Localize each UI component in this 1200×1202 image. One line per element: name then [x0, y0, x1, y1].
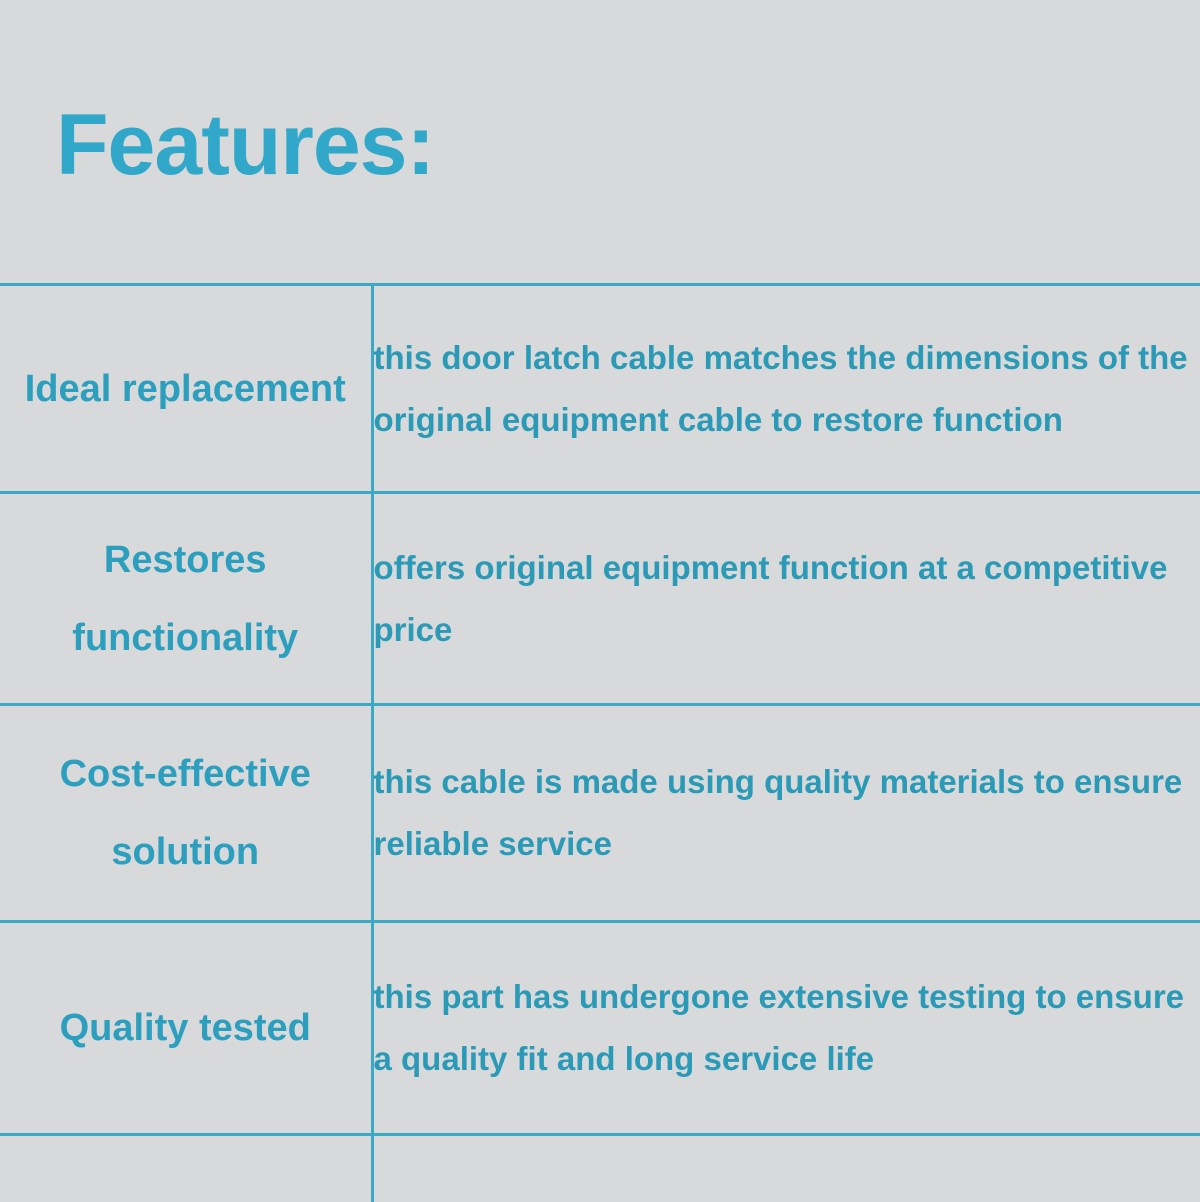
feature-term-cell: Ideal replacement	[0, 285, 372, 493]
features-page: Features: Ideal replacement this door la…	[0, 0, 1200, 1200]
page-title: Features:	[56, 97, 434, 193]
feature-description-text: this cable is made using quality materia…	[374, 751, 1200, 875]
feature-term-label: Ideal replacement	[0, 350, 371, 428]
table-row: Ideal replacement this door latch cable …	[0, 285, 1200, 493]
table-row: Quality tested this part has undergone e…	[0, 922, 1200, 1135]
feature-description-text: offers original equipment function at a …	[374, 537, 1200, 661]
table-row: Cost-effective solution this cable is ma…	[0, 705, 1200, 922]
table-row	[0, 1135, 1200, 1202]
feature-description-cell: this cable is made using quality materia…	[372, 705, 1200, 922]
feature-term-label: Quality tested	[0, 989, 371, 1067]
feature-description-cell	[372, 1135, 1200, 1202]
feature-term-label: Restores functionality	[0, 521, 371, 677]
feature-term-label: Cost-effective solution	[0, 735, 371, 891]
table-row: Restores functionality offers original e…	[0, 493, 1200, 705]
feature-description-cell: offers original equipment function at a …	[372, 493, 1200, 705]
feature-term-cell: Restores functionality	[0, 493, 372, 705]
feature-description-cell: this part has undergone extensive testin…	[372, 922, 1200, 1135]
feature-term-cell: Quality tested	[0, 922, 372, 1135]
feature-description-text: this door latch cable matches the dimens…	[374, 327, 1200, 451]
feature-description-cell: this door latch cable matches the dimens…	[372, 285, 1200, 493]
features-table-body: Ideal replacement this door latch cable …	[0, 285, 1200, 1202]
title-area: Features:	[0, 0, 1200, 283]
features-table: Ideal replacement this door latch cable …	[0, 283, 1200, 1202]
feature-description-text: this part has undergone extensive testin…	[374, 966, 1200, 1090]
feature-term-cell: Cost-effective solution	[0, 705, 372, 922]
feature-term-cell	[0, 1135, 372, 1202]
